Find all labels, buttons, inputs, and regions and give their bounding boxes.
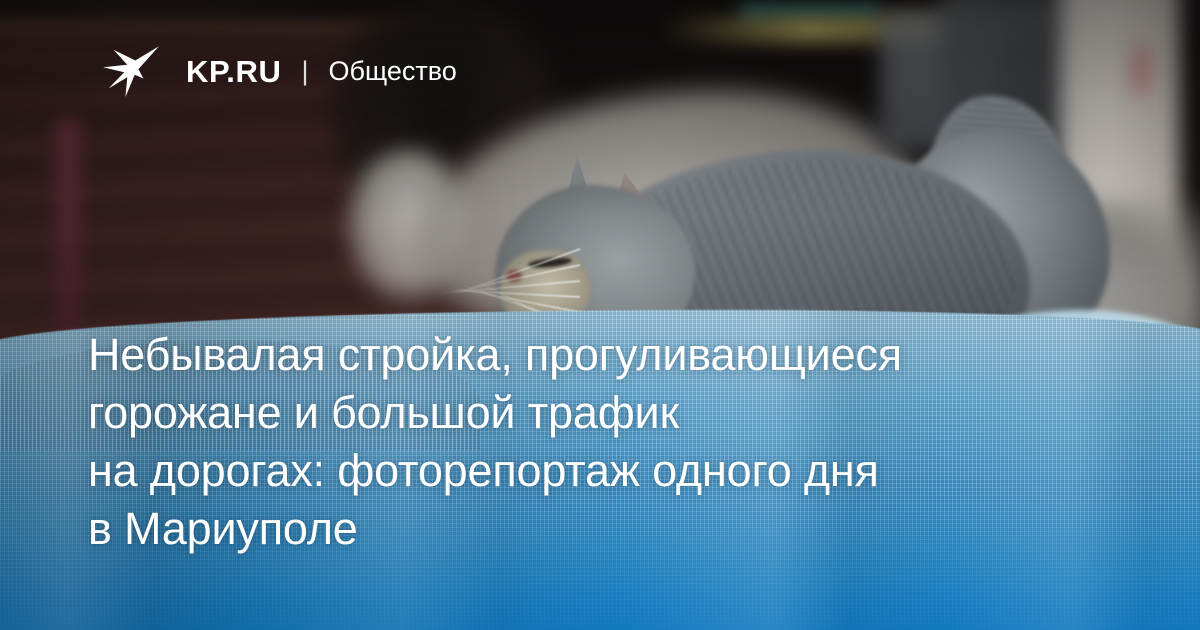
headline: Небывалая стройка, прогуливающиеся горож… xyxy=(88,326,1098,558)
headline-line-3: на дорогах: фоторепортаж одного дня xyxy=(88,442,1098,500)
header-divider: | xyxy=(301,58,308,85)
swallow-bird-logo-icon[interactable] xyxy=(100,40,162,102)
headline-line-2: горожане и большой трафик xyxy=(88,384,1098,442)
brand-name[interactable]: KP.RU xyxy=(186,56,281,87)
share-card: KP.RU | Общество Небывалая стройка, прог… xyxy=(0,0,1200,630)
headline-line-4: в Мариуполе xyxy=(88,500,1098,558)
rubric-label[interactable]: Общество xyxy=(328,58,456,85)
brand-header: KP.RU | Общество xyxy=(100,40,457,102)
headline-line-1: Небывалая стройка, прогуливающиеся xyxy=(88,326,1098,384)
